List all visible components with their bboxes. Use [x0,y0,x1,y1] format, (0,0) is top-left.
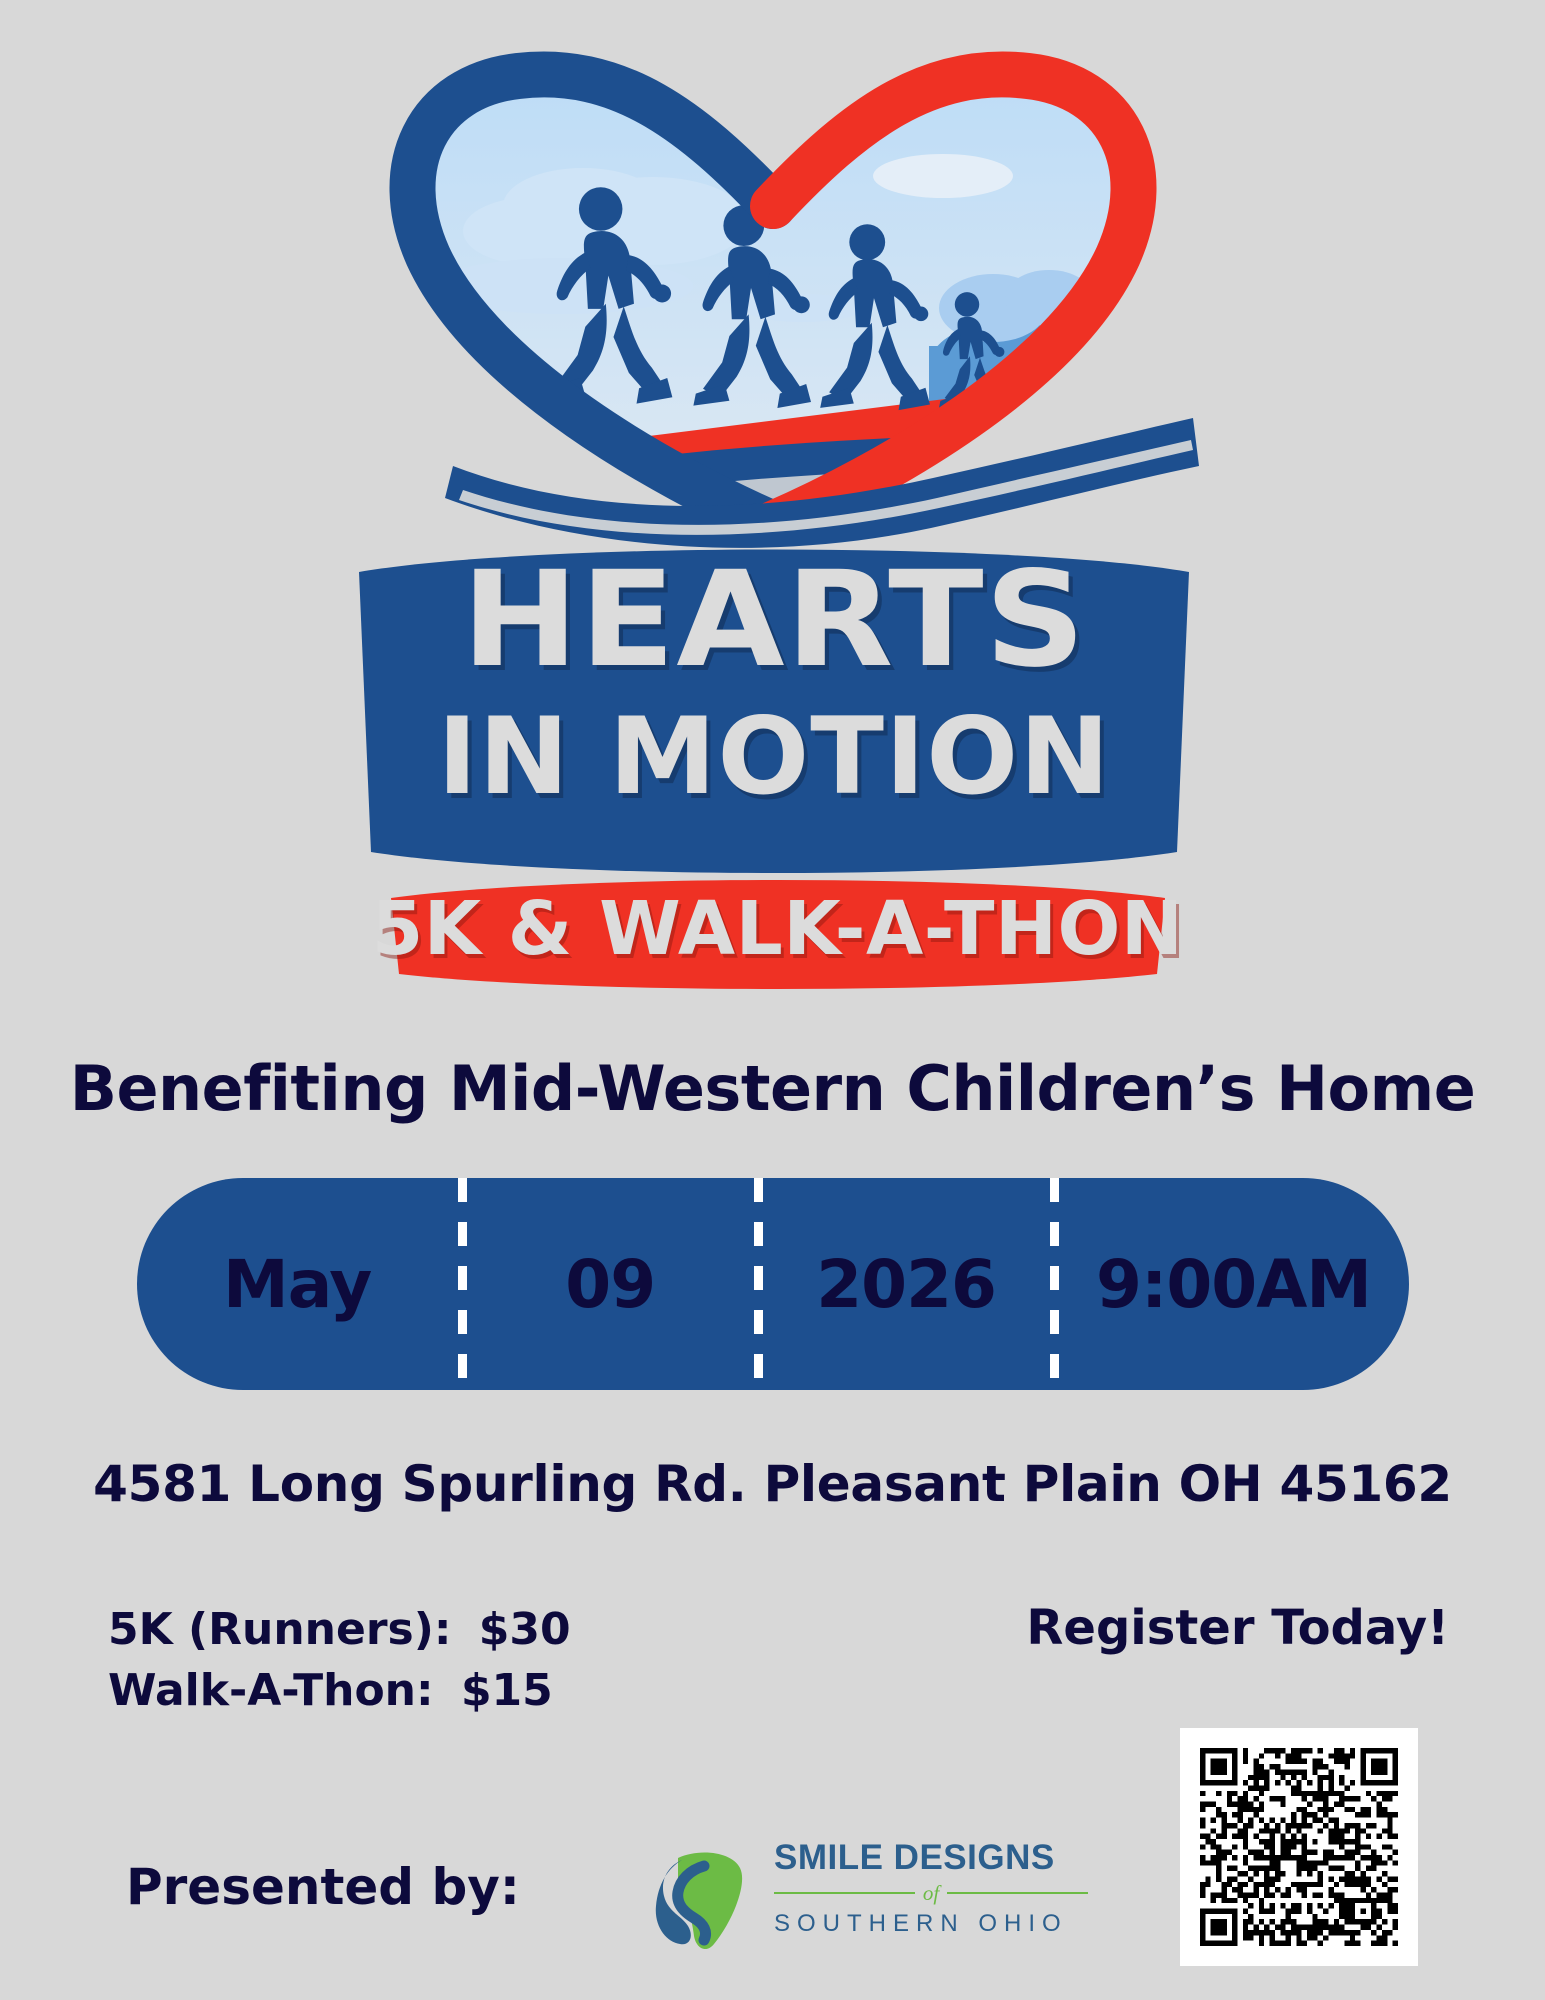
price-label-walkathon: Walk-A-Thon: [108,1665,434,1716]
qr-code[interactable] [1180,1728,1418,1966]
register-cta: Register Today! [1026,1600,1449,1656]
logo-wordmark-plate: HEARTS IN MOTION [341,536,1207,881]
heart-runners-illustration [333,46,1213,566]
date-divider-1 [458,1178,467,1390]
date-time: 9:00AM [1059,1246,1409,1323]
sponsor-location: SOUTHERN OHIO [774,1910,1088,1938]
date-month: May [137,1246,458,1323]
logo-title-line2: IN MOTION [332,704,1215,810]
sponsor-name: SMILE DESIGNS [774,1840,1088,1877]
smile-designs-tooth-icon [648,1844,760,1956]
price-row-walkathon: Walk-A-Thon: $15 [108,1661,571,1722]
logo-ribbon: 5K & WALK-A-THON [385,874,1171,992]
event-logo: HEARTS IN MOTION 5K & WALK-A-THON [333,46,1213,1016]
logo-ribbon-text: 5K & WALK-A-THON [385,870,1171,988]
sponsor-connector-row: of [774,1883,1088,1904]
date-year: 2026 [763,1246,1050,1323]
sponsor-connector: of [923,1883,939,1904]
flyer-page: HEARTS IN MOTION 5K & WALK-A-THON Benefi… [0,0,1545,2000]
sponsor-logo: SMILE DESIGNS of SOUTHERN OHIO [648,1840,1088,1970]
sponsor-rule-left [774,1892,915,1894]
date-divider-2 [754,1178,763,1390]
presented-by-label: Presented by: [126,1858,520,1916]
price-label-5k: 5K (Runners): [108,1604,451,1655]
sponsor-text-block: SMILE DESIGNS of SOUTHERN OHIO [774,1840,1088,1938]
pricing-list: 5K (Runners): $30 Walk-A-Thon: $15 [108,1600,571,1721]
qr-code-image [1200,1748,1398,1946]
price-amount-walkathon: $15 [461,1665,553,1716]
date-divider-3 [1050,1178,1059,1390]
benefiting-headline: Benefiting Mid-Western Children’s Home [0,1052,1545,1125]
price-row-5k: 5K (Runners): $30 [108,1600,571,1661]
sponsor-rule-right [947,1892,1088,1894]
event-date-bar: May 09 2026 9:00AM [137,1178,1409,1390]
date-day: 09 [467,1246,754,1323]
event-address: 4581 Long Spurling Rd. Pleasant Plain OH… [0,1455,1545,1513]
price-amount-5k: $30 [479,1604,571,1655]
logo-title-line1: HEARTS [315,554,1233,686]
